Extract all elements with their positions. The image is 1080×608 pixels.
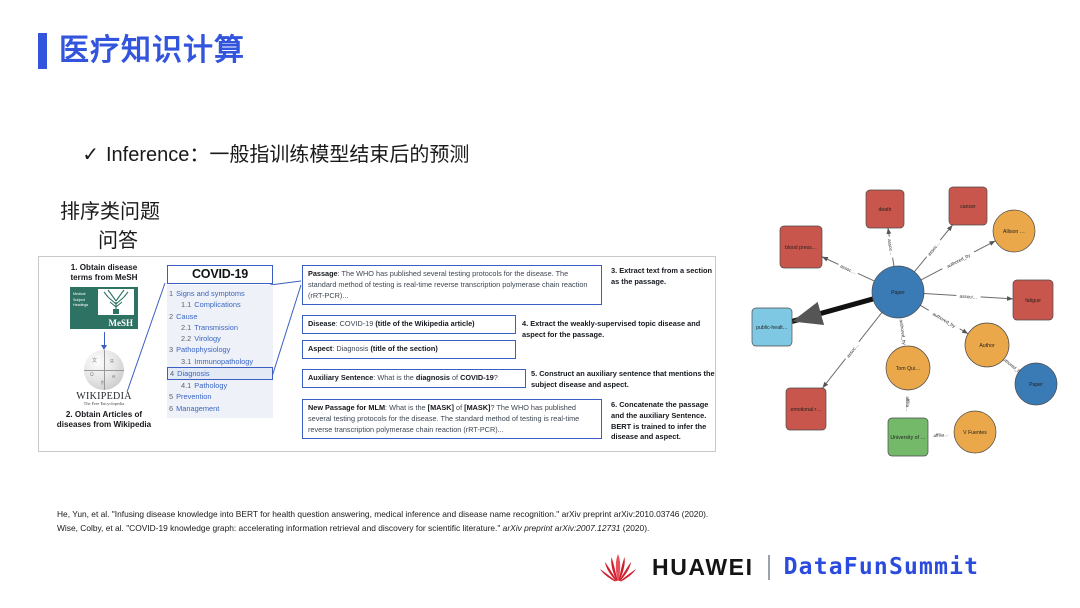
toc-item[interactable]: 3.1Immunopathology (167, 356, 273, 367)
knowledge-graph-node[interactable]: death (866, 190, 904, 228)
knowledge-graph-canvas: assoc…assoc…assoc…authored_byassoci…asso… (738, 160, 1058, 460)
knowledge-graph-node-label: fatigue (1025, 298, 1041, 304)
knowledge-graph-node[interactable]: cancer (949, 187, 987, 225)
aspect-box: Aspect: Diagnosis (title of the section) (302, 340, 516, 359)
figure-sources-column: 1. Obtain disease terms from MeSH Medica… (45, 263, 163, 447)
knowledge-graph-node-label: cancer (960, 204, 976, 210)
knowledge-graph-node-label: death (879, 207, 892, 213)
figure-note-6: 6. Concatenate the passage and the auxil… (611, 400, 715, 443)
mesh-to-wikipedia-arrow (104, 332, 105, 346)
brand-divider (768, 555, 770, 580)
knowledge-graph-node[interactable]: University of … (888, 418, 928, 456)
title-label: 医疗知识计算 (59, 36, 245, 66)
toc-item[interactable]: 4.1Pathology (167, 380, 273, 391)
knowledge-graph-node-label: public-healt… (756, 325, 788, 331)
wikipedia-globe-icon: 文 Я Ω א ह (84, 350, 124, 390)
bullet-item-1: 排序类问题 (60, 198, 469, 226)
knowledge-graph-node-label: University of … (890, 435, 925, 441)
knowledge-graph-node-label: Paper (1029, 382, 1043, 388)
toc-item[interactable]: 3Pathophysiology (167, 344, 273, 355)
mesh-tree-icon (98, 289, 134, 315)
toc-article-title: COVID-19 (167, 265, 273, 284)
bert-pipeline-figure: 1. Obtain disease terms from MeSH Medica… (38, 256, 716, 452)
knowledge-graph-node-label: Tom Qui… (896, 366, 921, 372)
knowledge-graph-node[interactable]: V Fuentes (954, 411, 996, 453)
datafun-summit-wordmark: DataFunSummit (784, 554, 980, 580)
figure-note-4: 4. Extract the weakly-supervised topic d… (522, 319, 716, 341)
bullet-item-label: Inference：一般指训练模型结束后的预测 (106, 144, 469, 166)
toc-list: 1Signs and symptoms 1.1Complications 2Ca… (167, 285, 273, 418)
mesh-logo-words: Medical Subject Headings (73, 292, 95, 308)
figure-note-5: 5. Construct an auxiliary sentence that … (531, 369, 717, 391)
knowledge-graph-node-label: V Fuentes (963, 430, 987, 436)
knowledge-graph-node[interactable]: fatigue (1013, 280, 1053, 320)
knowledge-graph-node[interactable]: Allison … (993, 210, 1035, 252)
toc-item[interactable]: 6Management (167, 403, 273, 414)
figure-step-2-label: 2. Obtain Articles of diseases from Wiki… (45, 410, 163, 430)
bullet-item-0: ✓Inference：一般指训练模型结束后的预测 (60, 113, 469, 198)
knowledge-graph-node-label: Author (979, 343, 995, 349)
knowledge-graph-node-label: Allison … (1003, 229, 1025, 235)
mesh-logo: Medical Subject Headings MeSH (70, 287, 138, 329)
wikipedia-toc-panel: COVID-19 1Signs and symptoms 1.1Complica… (167, 265, 273, 418)
toc-item[interactable]: 5Prevention (167, 391, 273, 402)
citation-line-1: He, Yun, et al. "Infusing disease knowle… (57, 508, 1017, 522)
new-passage-mlm-box: New Passage for MLM: What is the [MASK] … (302, 399, 602, 439)
knowledge-graph-node[interactable]: blood press… (780, 226, 822, 268)
auxiliary-sentence-box: Auxiliary Sentence: What is the diagnosi… (302, 369, 526, 388)
page-title: 医疗知识计算 (38, 33, 245, 69)
footer-branding: HUAWEI DataFunSummit (598, 552, 979, 582)
knowledge-graph-node[interactable]: public-healt… (752, 308, 792, 346)
mesh-logo-name: MeSH (109, 318, 134, 328)
covid-knowledge-graph-figure: assoc…assoc…assoc…authored_byassoci…asso… (738, 160, 1058, 460)
knowledge-graph-edge-label: associ… (960, 294, 978, 300)
toc-item[interactable]: 1.1Complications (167, 299, 273, 310)
citation-block: He, Yun, et al. "Infusing disease knowle… (57, 508, 1017, 535)
title-accent-bar (38, 33, 47, 69)
toc-item-diagnosis[interactable]: 4Diagnosis (167, 367, 273, 380)
check-icon: ✓ (82, 144, 99, 166)
toc-item[interactable]: 2.2Virology (167, 333, 273, 344)
knowledge-graph-node[interactable]: Paper (1015, 363, 1057, 405)
knowledge-graph-node[interactable]: emotional r… (786, 388, 826, 430)
knowledge-graph-edge-label: affilia… (905, 396, 910, 411)
knowledge-graph-node[interactable]: Tom Qui… (886, 346, 930, 390)
toc-item[interactable]: 2Cause (167, 311, 273, 322)
knowledge-graph-node[interactable]: Paper (872, 266, 924, 318)
huawei-logo-icon (598, 552, 638, 582)
toc-item[interactable]: 1Signs and symptoms (167, 288, 273, 299)
huawei-wordmark: HUAWEI (652, 554, 754, 581)
wikipedia-tagline: The Free Encyclopedia (45, 401, 163, 406)
knowledge-graph-node-label: Paper (891, 290, 905, 296)
knowledge-graph-node-label: blood press… (785, 245, 817, 251)
knowledge-graph-node[interactable]: Author (965, 323, 1009, 367)
citation-line-2: Wise, Colby, et al. "COVID-19 knowledge … (57, 522, 1017, 536)
toc-item[interactable]: 2.1Transmission (167, 322, 273, 333)
figure-step-1-label: 1. Obtain disease terms from MeSH (45, 263, 163, 283)
figure-note-3: 3. Extract text from a section as the pa… (611, 266, 715, 288)
knowledge-graph-node-label: emotional r… (791, 407, 822, 413)
disease-box: Disease: COVID-19 (title of the Wikipedi… (302, 315, 516, 334)
knowledge-graph-edge (792, 299, 873, 321)
passage-box: Passage: The WHO has published several t… (302, 265, 602, 305)
bullet-item-2: 问答 (60, 227, 469, 255)
